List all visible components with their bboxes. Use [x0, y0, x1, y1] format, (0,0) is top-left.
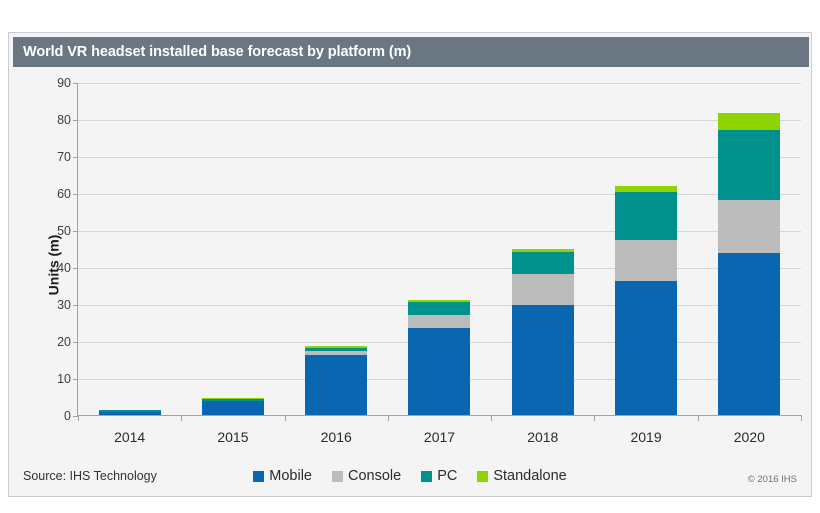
legend-swatch-mobile: [253, 471, 264, 482]
bar-segment-mobile[interactable]: [305, 355, 367, 415]
y-axis-tick-label: 40: [57, 261, 71, 275]
x-axis-tick-label: 2018: [527, 429, 558, 445]
bar-stack[interactable]: [512, 249, 574, 415]
bar-segment-mobile[interactable]: [512, 305, 574, 415]
bar-segment-console[interactable]: [615, 240, 677, 281]
y-axis-tick-label: 0: [64, 409, 71, 423]
y-axis-tick-label: 50: [57, 224, 71, 238]
y-axis-tick-label: 60: [57, 187, 71, 201]
bar-segment-pc[interactable]: [512, 252, 574, 275]
bar-segment-standalone[interactable]: [718, 113, 780, 130]
bar-segment-mobile[interactable]: [718, 253, 780, 415]
legend-item-standalone[interactable]: Standalone: [477, 468, 566, 484]
page-title: World VR headset installed base forecast…: [13, 44, 411, 60]
chart-title-bar: World VR headset installed base forecast…: [13, 37, 809, 67]
y-axis-tick-label: 10: [57, 372, 71, 386]
bar-segment-console[interactable]: [408, 315, 470, 328]
bar-segment-mobile[interactable]: [615, 281, 677, 415]
legend-label: Standalone: [493, 468, 566, 484]
x-axis-tick: [801, 415, 802, 421]
legend-label: PC: [437, 468, 457, 484]
bar-group[interactable]: 2015: [181, 83, 284, 415]
x-axis-tick-label: 2014: [114, 429, 145, 445]
y-axis-tick-label: 80: [57, 113, 71, 127]
bar-group[interactable]: 2017: [388, 83, 491, 415]
x-axis-tick: [491, 415, 492, 421]
y-axis-tick-label: 30: [57, 298, 71, 312]
legend-item-pc[interactable]: PC: [421, 468, 457, 484]
bar-segment-pc[interactable]: [615, 192, 677, 240]
bar-stack[interactable]: [718, 113, 780, 415]
bar-group[interactable]: 2019: [594, 83, 697, 415]
x-axis-tick-label: 2019: [630, 429, 661, 445]
x-axis-tick: [698, 415, 699, 421]
chart-figure: World VR headset installed base forecast…: [8, 32, 812, 497]
bar-segment-mobile[interactable]: [408, 328, 470, 415]
x-axis-tick-label: 2020: [734, 429, 765, 445]
bar-stack[interactable]: [408, 300, 470, 415]
legend-swatch-console: [332, 471, 343, 482]
legend-item-mobile[interactable]: Mobile: [253, 468, 312, 484]
plot-area: 0102030405060708090201420152016201720182…: [77, 83, 801, 416]
legend-item-console[interactable]: Console: [332, 468, 401, 484]
x-axis-tick: [78, 415, 79, 421]
bar-segment-mobile[interactable]: [99, 412, 161, 415]
x-axis-tick: [181, 415, 182, 421]
x-axis-tick: [285, 415, 286, 421]
bar-stack[interactable]: [305, 346, 367, 415]
bar-segment-mobile[interactable]: [202, 401, 264, 415]
x-axis-tick-label: 2017: [424, 429, 455, 445]
bar-segment-pc[interactable]: [718, 130, 780, 200]
bar-stack[interactable]: [615, 186, 677, 415]
legend-label: Mobile: [269, 468, 312, 484]
bar-group[interactable]: 2014: [78, 83, 181, 415]
bar-segment-pc[interactable]: [408, 302, 470, 315]
x-axis-tick: [388, 415, 389, 421]
copyright-note: © 2016 IHS: [748, 474, 797, 485]
bar-stack[interactable]: [99, 410, 161, 415]
y-axis-tick-label: 20: [57, 335, 71, 349]
x-axis-tick-label: 2016: [321, 429, 352, 445]
bar-segment-console[interactable]: [718, 200, 780, 253]
bar-group[interactable]: 2018: [491, 83, 594, 415]
legend-swatch-standalone: [477, 471, 488, 482]
legend-swatch-pc: [421, 471, 432, 482]
bar-stack[interactable]: [202, 398, 264, 415]
source-note: Source: IHS Technology: [23, 469, 157, 483]
bar-segment-console[interactable]: [512, 274, 574, 304]
x-axis-tick: [594, 415, 595, 421]
bar-group[interactable]: 2020: [698, 83, 801, 415]
y-axis-tick-label: 70: [57, 150, 71, 164]
y-axis-tick-label: 90: [57, 76, 71, 90]
bar-group[interactable]: 2016: [285, 83, 388, 415]
legend-label: Console: [348, 468, 401, 484]
x-axis-tick-label: 2015: [217, 429, 248, 445]
